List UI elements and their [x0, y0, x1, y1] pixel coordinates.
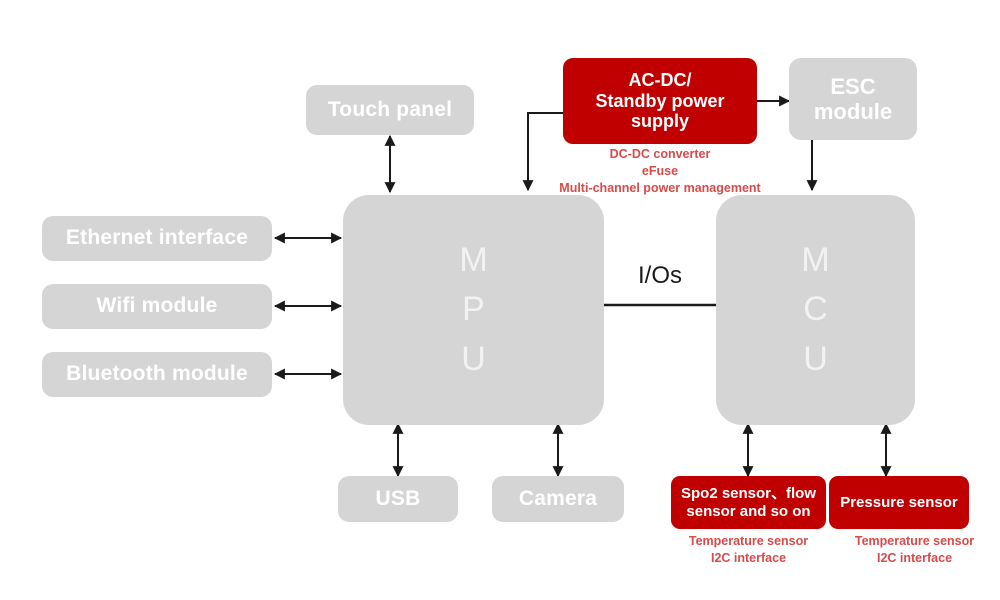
node-wifi-module[interactable]: Wifi module — [42, 284, 272, 329]
node-mpu-letter-0: M — [459, 236, 487, 285]
node-spo2-sensor[interactable]: Spo2 sensor、flow sensor and so on — [671, 476, 826, 529]
system-block-diagram: Touch panel Ethernet interface Wifi modu… — [0, 0, 1000, 600]
node-power-supply[interactable]: AC-DC/ Standby power supply — [563, 58, 757, 144]
node-mpu[interactable]: M P U — [343, 195, 604, 425]
node-bluetooth-label: Bluetooth module — [66, 362, 248, 386]
node-esc-module-label: ESC module — [814, 74, 892, 125]
node-power-supply-label: AC-DC/ Standby power supply — [595, 70, 724, 132]
node-esc-module[interactable]: ESC module — [789, 58, 917, 140]
node-mcu-letter-0: M — [801, 236, 829, 285]
node-mcu-letter-1: C — [803, 285, 828, 334]
node-bluetooth-module[interactable]: Bluetooth module — [42, 352, 272, 397]
node-mpu-letter-2: U — [461, 335, 486, 384]
node-wifi-label: Wifi module — [96, 294, 217, 318]
node-camera[interactable]: Camera — [492, 476, 624, 522]
node-usb-label: USB — [376, 487, 421, 511]
node-ethernet-interface[interactable]: Ethernet interface — [42, 216, 272, 261]
edge-label-ios: I/Os — [604, 262, 716, 290]
node-touch-panel[interactable]: Touch panel — [306, 85, 474, 135]
node-usb[interactable]: USB — [338, 476, 458, 522]
node-ethernet-label: Ethernet interface — [66, 226, 248, 250]
node-camera-label: Camera — [519, 487, 597, 511]
node-mcu-letter-2: U — [803, 335, 828, 384]
caption-power-supply: DC-DC converter eFuse Multi-channel powe… — [540, 146, 780, 197]
node-pressure-sensor[interactable]: Pressure sensor — [829, 476, 969, 529]
caption-pressure-sensor: Temperature sensor I2C interface — [832, 533, 997, 567]
node-mcu[interactable]: M C U — [716, 195, 915, 425]
node-mcu-letters: M C U — [801, 236, 829, 384]
node-mpu-letters: M P U — [459, 236, 487, 384]
caption-spo2-sensor: Temperature sensor I2C interface — [666, 533, 831, 567]
node-spo2-sensor-label: Spo2 sensor、flow sensor and so on — [681, 485, 816, 520]
node-pressure-sensor-label: Pressure sensor — [840, 494, 958, 511]
node-mpu-letter-1: P — [462, 285, 485, 334]
node-touch-panel-label: Touch panel — [328, 98, 452, 122]
